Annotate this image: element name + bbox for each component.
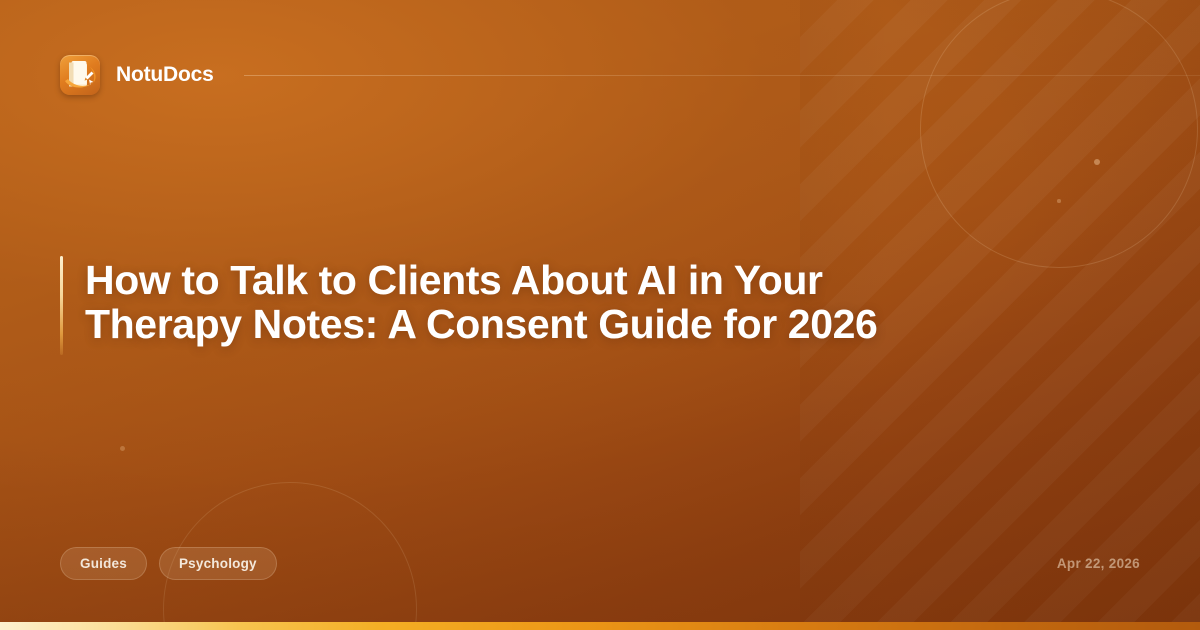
decorative-dot-small: [1057, 199, 1061, 203]
social-share-card: NotuDocs How to Talk to Clients About AI…: [0, 0, 1200, 630]
card-header: NotuDocs: [60, 54, 1200, 96]
decorative-circle-top-right: [920, 0, 1198, 268]
title-block: How to Talk to Clients About AI in Your …: [60, 256, 990, 355]
card-footer: Guides Psychology Apr 22, 2026: [60, 546, 1140, 580]
decorative-dot-left: [120, 446, 125, 451]
bottom-accent-bar: [0, 622, 1200, 630]
notudocs-logo-icon[interactable]: [60, 55, 100, 95]
page-title: How to Talk to Clients About AI in Your …: [85, 256, 990, 355]
tag-psychology[interactable]: Psychology: [159, 547, 277, 580]
title-accent-bar: [60, 256, 63, 355]
tag-list: Guides Psychology: [60, 547, 277, 580]
decorative-dot-large: [1094, 159, 1100, 165]
brand-name: NotuDocs: [116, 63, 214, 87]
tag-guides[interactable]: Guides: [60, 547, 147, 580]
header-divider-line: [244, 75, 1200, 76]
publish-date: Apr 22, 2026: [1057, 556, 1140, 571]
